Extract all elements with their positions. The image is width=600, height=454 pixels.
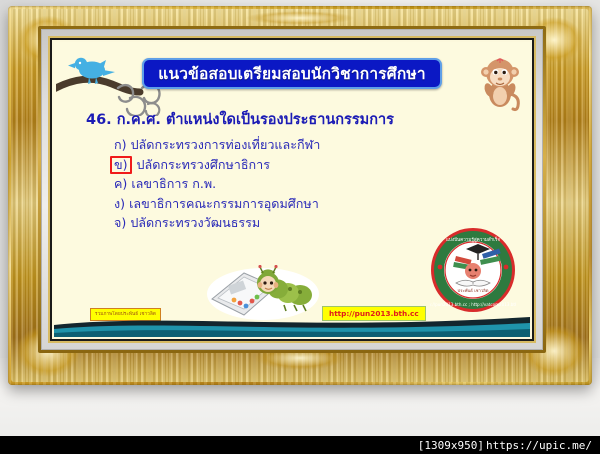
question-text: 46. ก.ค.ศ. ตำแหน่งใดเป็นรองประธานกรรมการ — [86, 108, 394, 131]
choice-label: ค) — [114, 174, 127, 194]
choice-label: ก) — [114, 135, 127, 155]
seal-name-text: ประพันธ์ เชาวลิต — [458, 288, 489, 293]
choice-text: เลขาธิการ ก.พ. — [131, 176, 216, 191]
choice-label: จ) — [114, 213, 126, 233]
choice-label-highlight: ข) — [110, 156, 132, 174]
choice-text: เลขาธิการคณะกรรมการอุดมศึกษา — [129, 196, 319, 211]
organization-seal-logo: แบ่งปันความรู้สู่ความสำเร็จ ประพันธ์ เชา… — [430, 227, 516, 313]
footer-wave-decoration — [54, 315, 530, 337]
choice-item[interactable]: ง) เลขาธิการคณะกรรมการอุดมศึกษา — [110, 194, 510, 214]
choice-list: ก) ปลัดกระทรวงการท่องเที่ยวและกีฬา ข) ปล… — [110, 135, 510, 233]
choice-label: ง) — [114, 194, 125, 214]
image-dimensions-label: [1309x950] — [418, 439, 484, 452]
monkey-mascot-icon — [476, 50, 524, 112]
choice-text: ปลัดกระทรวงการท่องเที่ยวและกีฬา — [131, 137, 321, 152]
screenshot-root: แนวข้อสอบเตรียมสอบนักวิชาการศึกษา — [0, 0, 600, 454]
choice-item[interactable]: ค) เลขาธิการ ก.พ. — [110, 174, 510, 194]
seal-ring-text: http://pun2013.bth.cc ; http://vatcom201… — [430, 302, 516, 307]
choice-item-selected[interactable]: ข) ปลัดกระทรวงศึกษาธิการ — [110, 155, 510, 175]
title-banner: แนวข้อสอบเตรียมสอบนักวิชาการศึกษา — [142, 58, 442, 89]
choice-text: ปลัดกระทรวงวัฒนธรรม — [130, 215, 260, 230]
slide-canvas: แนวข้อสอบเตรียมสอบนักวิชาการศึกษา — [54, 42, 530, 337]
image-host-link[interactable]: https://upic.me/ — [486, 439, 592, 452]
choice-text: ปลัดกระทรวงศึกษาธิการ — [137, 157, 270, 172]
image-host-footer-bar: [1309x950] https://upic.me/ — [0, 436, 600, 454]
choice-item[interactable]: ก) ปลัดกระทรวงการท่องเที่ยวและกีฬา — [110, 135, 510, 155]
title-banner-text: แนวข้อสอบเตรียมสอบนักวิชาการศึกษา — [158, 61, 425, 86]
slide-image: แนวข้อสอบเตรียมสอบนักวิชาการศึกษา — [52, 40, 532, 339]
